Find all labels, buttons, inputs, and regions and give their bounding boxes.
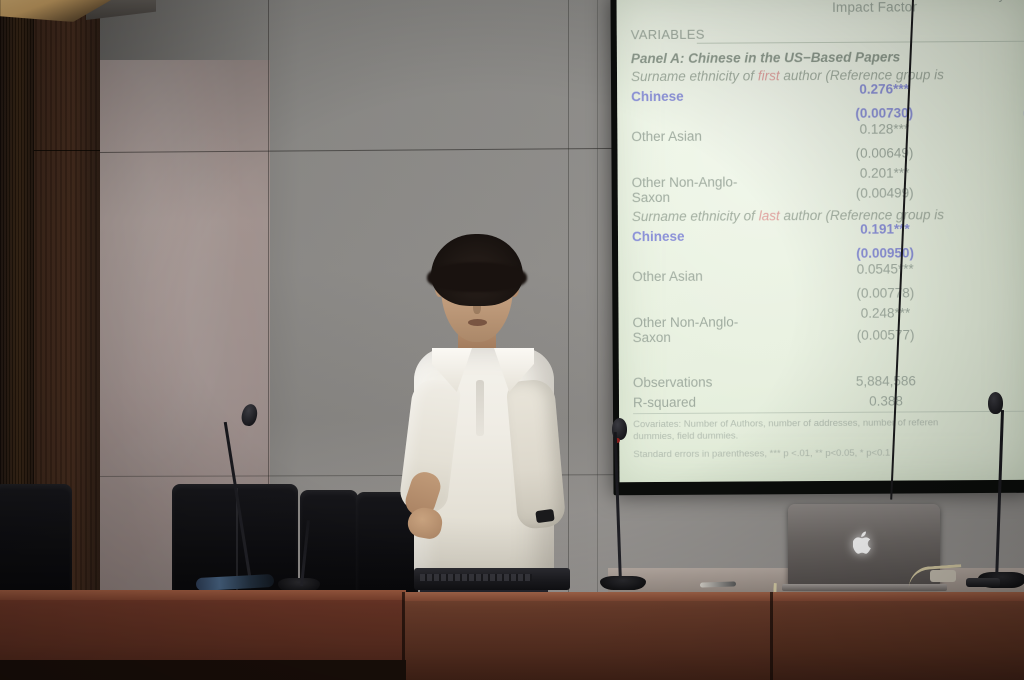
center-gooseneck-mic-base xyxy=(600,576,646,590)
slide-row-other-asian-last-se: (0.00778) (( xyxy=(632,285,1024,307)
chair xyxy=(0,484,72,596)
desk-seam-right xyxy=(770,592,773,680)
remote-control xyxy=(966,578,1000,587)
subhead-first-pre: Surname ethnicity of xyxy=(631,68,758,84)
row-coef-col2: 0 xyxy=(980,260,1024,276)
slide-footnote-stderr: Standard errors in parentheses, *** p <.… xyxy=(633,448,890,462)
front-desk-right xyxy=(772,592,1024,680)
projected-slide: (1) (2) Impact Factor Five-ye VARIABLES … xyxy=(617,0,1024,482)
conference-room-scene: (1) (2) Impact Factor Five-ye VARIABLES … xyxy=(0,0,1024,680)
row-label: Other Asian xyxy=(631,129,702,144)
row-coef-col2: ( xyxy=(980,304,1024,320)
slide-rule-top xyxy=(697,41,1024,44)
row-coef: 0.191*** xyxy=(830,221,940,237)
row-value: 5,884,586 xyxy=(831,373,941,389)
row-label: Chinese xyxy=(631,89,684,104)
row-se: (0.00950) xyxy=(830,245,940,261)
subhead-first-highlight: first xyxy=(758,68,780,83)
slide-row-chinese-first-se: (0.00730) (0 xyxy=(631,105,1024,127)
row-se-col2: (( xyxy=(981,326,1024,342)
row-coef: 0.276*** xyxy=(829,81,939,97)
row-coef-col2: 0 xyxy=(979,120,1024,136)
slide-row-other-asian-first-se: (0.00649) (0 xyxy=(631,145,1024,167)
projection-screen-surface: (1) (2) Impact Factor Five-ye VARIABLES … xyxy=(617,0,1024,482)
row-coef: 0.128*** xyxy=(829,121,939,137)
row-coef: 0.248*** xyxy=(830,305,940,321)
dark-laptop xyxy=(414,568,570,590)
row-se-col2: (0 xyxy=(979,144,1024,160)
row-coef-col2: 0 xyxy=(979,80,1024,96)
hair xyxy=(431,234,523,306)
wall-seam-vertical-a xyxy=(268,0,269,520)
presenter xyxy=(384,230,584,590)
row-se: (0.00730) xyxy=(829,105,939,121)
mouth xyxy=(468,319,487,326)
row-se: (0.00577) xyxy=(831,327,941,343)
slide-row-other-nonanglo-first-se: (0.00499) (0 xyxy=(632,185,1024,207)
row-se-col2: ( xyxy=(980,244,1024,260)
power-adapter xyxy=(930,570,956,582)
front-desk-center xyxy=(404,592,774,680)
row-label: Other Asian xyxy=(632,269,703,284)
row-se: (0.00649) xyxy=(829,145,939,161)
slide-header-five-year: Five-ye xyxy=(968,0,1024,2)
subhead-last-pre: Surname ethnicity of xyxy=(632,208,759,224)
row-coef: 0.0545*** xyxy=(830,261,940,277)
row-label: Observations xyxy=(633,375,713,390)
wristwatch xyxy=(535,509,554,523)
slide-footnote-dummies: dummies, field dummies. xyxy=(633,431,738,444)
slide-panel-title: Panel A: Chinese in the US−Based Papers xyxy=(631,50,900,67)
row-value-col2: 5 xyxy=(981,372,1024,388)
floor-shadow xyxy=(0,660,406,680)
row-label: Chinese xyxy=(632,229,685,244)
slide-row-chinese-last-se: (0.00950) ( xyxy=(632,245,1024,267)
slide-header-impact-factor: Impact Factor xyxy=(815,0,935,15)
row-se: (0.00778) xyxy=(830,285,940,301)
row-se: (0.00499) xyxy=(830,185,940,201)
slide-row-observations: Observations 5,884,586 5 xyxy=(633,373,1024,395)
wall-seam-vertical-c xyxy=(597,0,598,598)
row-se-col2: (0 xyxy=(980,184,1024,200)
row-value: 0.388 xyxy=(831,393,941,409)
subhead-last-highlight: last xyxy=(759,208,780,223)
row-se-col2: (0 xyxy=(979,104,1024,120)
row-se-col2: (( xyxy=(980,284,1024,300)
apple-logo-icon xyxy=(853,530,875,556)
row-label: R-squared xyxy=(633,395,696,410)
row-coef-col2: 0 xyxy=(980,220,1024,236)
row-coef-col2: 0 xyxy=(980,164,1024,180)
slide-variables-label: VARIABLES xyxy=(631,27,705,42)
slide-row-other-nonanglo-last-se: (0.00577) (( xyxy=(633,327,1024,349)
shirt-placket xyxy=(476,380,484,436)
row-coef: 0.201*** xyxy=(830,165,940,181)
